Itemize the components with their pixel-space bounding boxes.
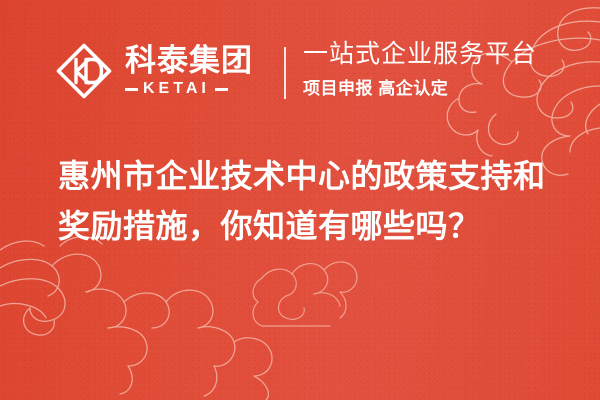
headline-text: 惠州市企业技术中心的政策支持和 奖励措施，你知道有哪些吗？	[58, 152, 568, 251]
ketai-logo-svg	[55, 42, 113, 100]
logo-dash-left-icon	[125, 88, 138, 91]
ketai-logo-icon	[55, 42, 113, 100]
logo-company-name-cn: 科泰集团	[125, 45, 253, 76]
tagline-primary: 一站式企业服务平台	[303, 40, 537, 68]
logo-company-name-en: KETAI	[143, 81, 210, 97]
promotional-banner: 科泰集团 KETAI 一站式企业服务平台 项目申报 高企认定 惠州市企业技术中心…	[0, 0, 600, 400]
header-divider	[284, 47, 286, 99]
brand-header: 科泰集团 KETAI	[55, 36, 253, 106]
logo-dash-right-icon	[215, 88, 228, 91]
headline-line-2: 奖励措施，你知道有哪些吗？	[58, 202, 568, 252]
headline-line-1: 惠州市企业技术中心的政策支持和	[58, 152, 568, 202]
logo-wordmark: 科泰集团 KETAI	[125, 45, 253, 97]
logo-company-name-en-row: KETAI	[125, 81, 253, 97]
tagline-secondary: 项目申报 高企认定	[303, 74, 537, 99]
tagline-block: 一站式企业服务平台 项目申报 高企认定	[303, 40, 537, 99]
